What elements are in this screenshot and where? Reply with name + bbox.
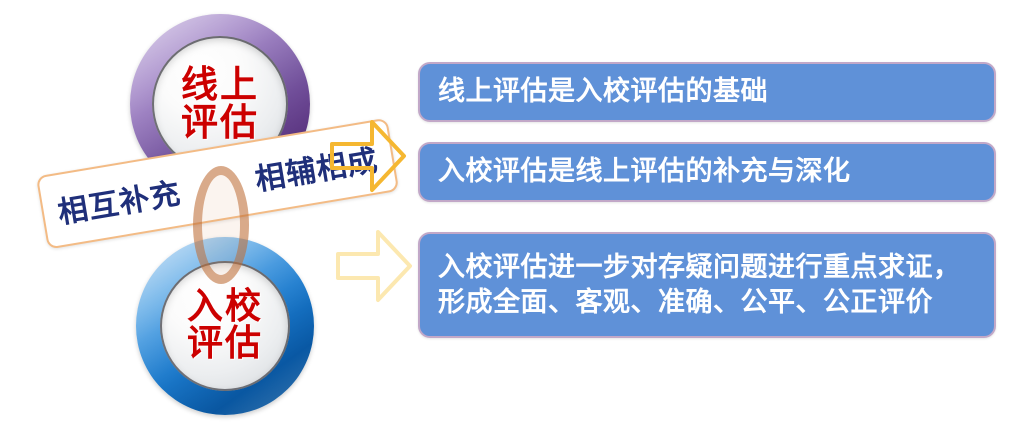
callout-box-1[interactable]: 线上评估是入校评估的基础 [418, 62, 996, 122]
badge-onsite-line-2: 评估 [187, 326, 263, 363]
badge-online-line-1: 线上 [181, 66, 259, 104]
banner-label-mutual-supplement: 相互补充 [54, 168, 184, 232]
callout-1-line-1: 线上评估是入校评估的基础 [438, 74, 976, 109]
badge-online-line-2: 评估 [181, 104, 259, 142]
slide-canvas: 线上 评估 入校 评估 相互补充 相辅相成 线上评估是入校评估的基础 入校评估是… [0, 0, 1014, 428]
arrow-right-icon-top [328, 118, 408, 194]
chain-link-ring-icon [193, 166, 249, 284]
callout-box-2[interactable]: 入校评估是线上评估的补充与深化 [418, 142, 996, 202]
callout-box-3[interactable]: 入校评估进一步对存疑问题进行重点求证， 形成全面、客观、准确、公平、公正评价 [418, 232, 996, 338]
callout-3-line-1: 入校评估进一步对存疑问题进行重点求证， [438, 250, 976, 285]
callout-2-line-1: 入校评估是线上评估的补充与深化 [438, 154, 976, 189]
arrow-right-icon-bottom [334, 228, 414, 304]
callout-3-line-2: 形成全面、客观、准确、公平、公正评价 [438, 285, 976, 320]
badge-onsite-line-1: 入校 [187, 289, 263, 326]
